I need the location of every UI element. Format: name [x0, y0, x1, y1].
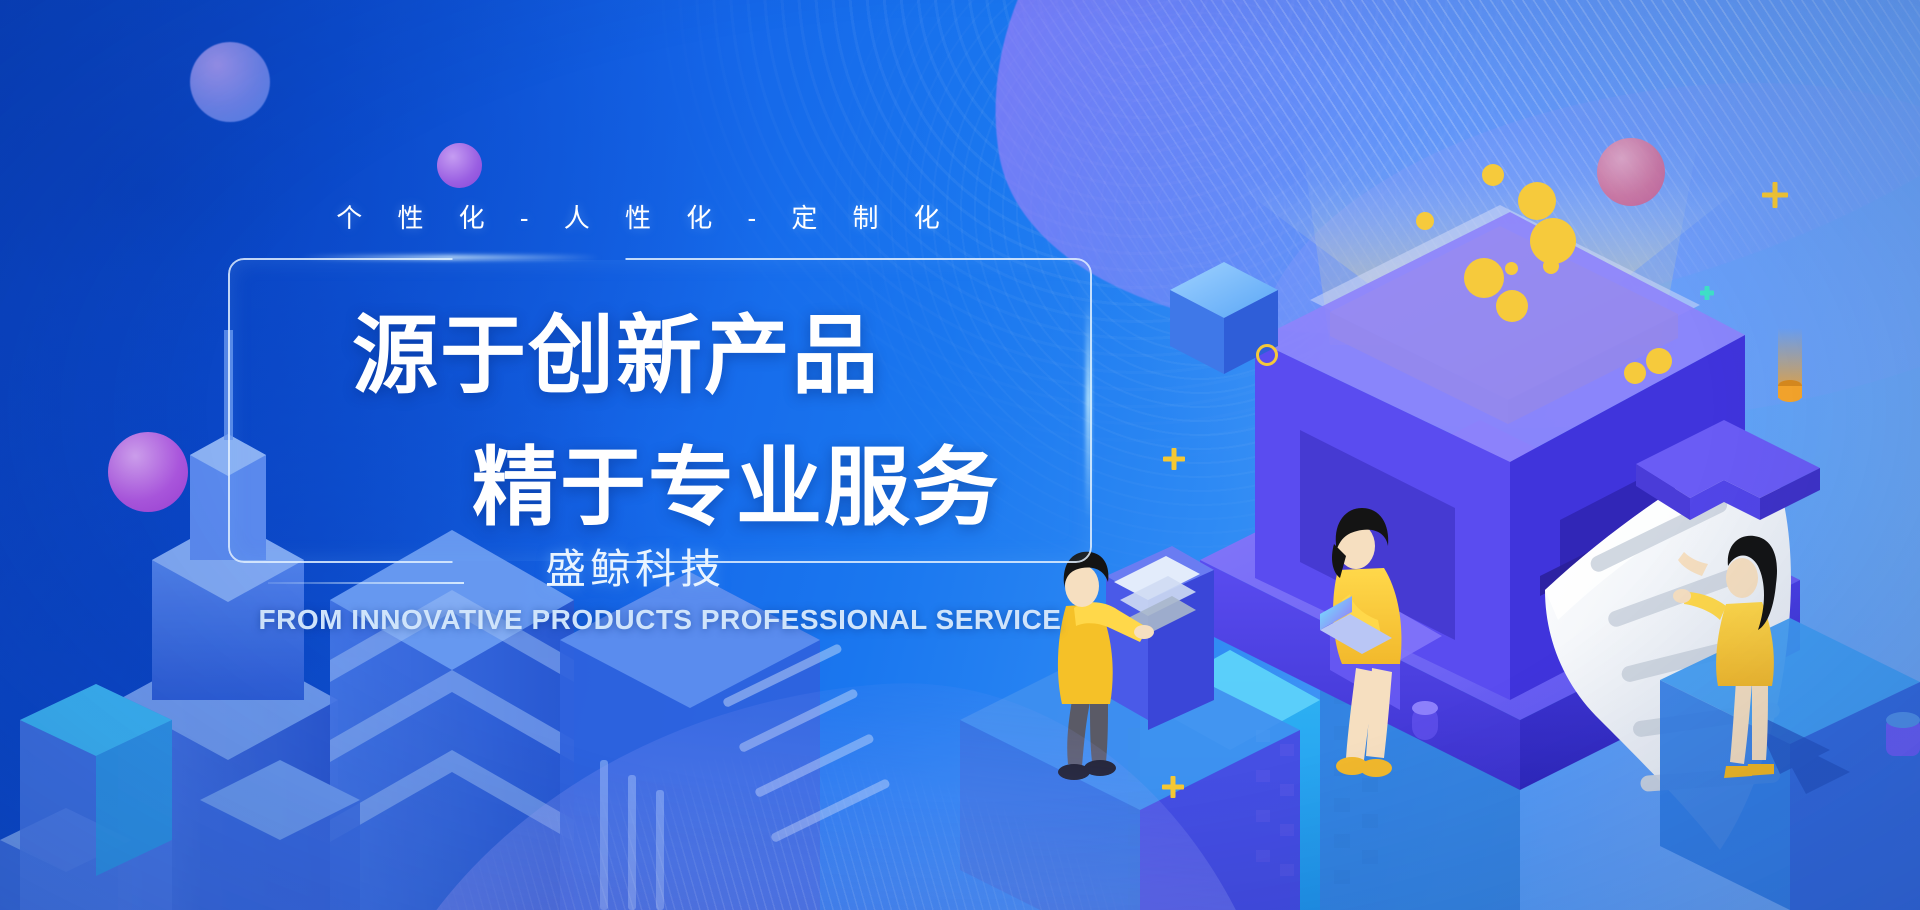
banner-content: 个 性 化 - 人 性 化 - 定 制 化 源于创新产品 精于专业服务 盛鲸科技…	[0, 0, 1920, 910]
tagline: 个 性 化 - 人 性 化 - 定 制 化	[0, 198, 1290, 235]
english-subtitle: FROM INNOVATIVE PRODUCTS PROFESSIONAL SE…	[0, 604, 1320, 636]
frame-right-edge-glow	[1086, 300, 1091, 520]
headline-line-1: 源于创新产品	[352, 285, 880, 410]
brand-rule	[268, 582, 464, 584]
brand-name: 盛鲸科技	[545, 535, 725, 595]
headline-line-2: 精于专业服务	[472, 417, 1000, 542]
hero-banner: 个 性 化 - 人 性 化 - 定 制 化 源于创新产品 精于专业服务 盛鲸科技…	[0, 0, 1920, 910]
frame-top-edge-glow	[300, 255, 600, 260]
